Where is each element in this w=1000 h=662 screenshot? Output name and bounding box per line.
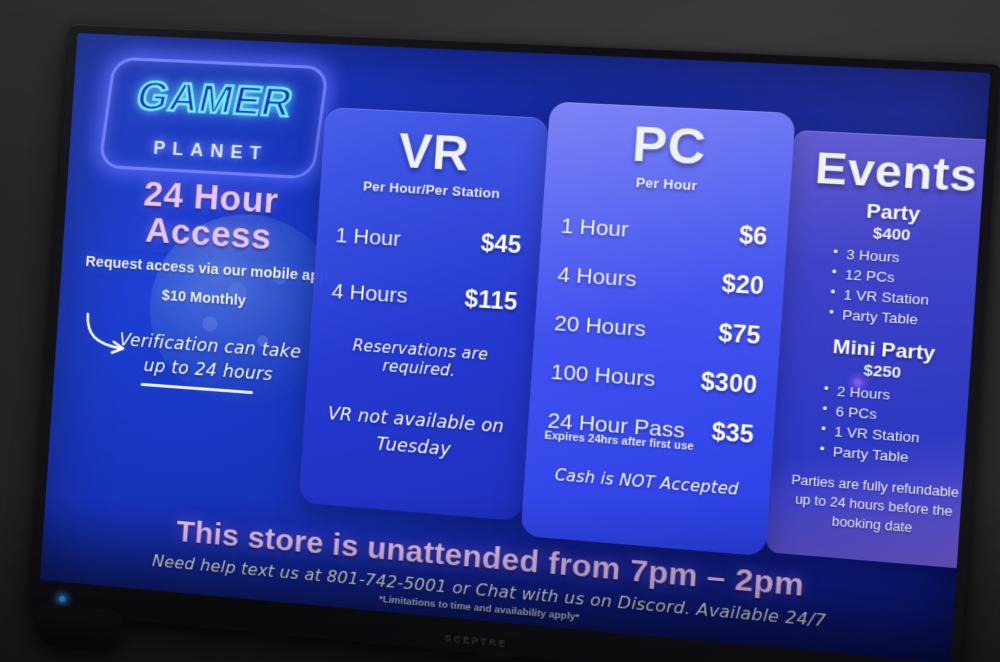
price-label: 1 Hour	[335, 224, 402, 252]
card-vr-reservation-note: Reservations are required.	[324, 334, 516, 384]
price-label: 1 Hour	[560, 214, 629, 243]
tv-mount-nub	[475, 650, 512, 662]
price-value: $35	[711, 418, 755, 450]
pricing-card-vr[interactable]: VR Per Hour/Per Station 1 Hour $45 4 Hou…	[299, 107, 550, 521]
price-label: 20 Hours	[553, 311, 646, 342]
price-value: $300	[700, 367, 758, 399]
price-value: $75	[717, 319, 761, 350]
pricing-card-pc[interactable]: PC Per Hour 1 Hour $6 4 Hours $20	[520, 101, 795, 556]
verification-note: Verification can take up to 24 hours	[67, 324, 334, 399]
curved-arrow-icon	[81, 311, 135, 358]
price-row: 4 Hours $115	[328, 262, 522, 331]
card-events-footnote: Parties are fully refundable up to 24 ho…	[785, 471, 962, 542]
logo-primary-text: GAMER	[132, 74, 297, 126]
event-package-mini-party: Mini Party $250 2 Hours 6 PCs 1 VR Stati…	[790, 333, 972, 472]
event-package-party: Party $400 3 Hours 12 PCs 1 VR Station P…	[799, 197, 981, 334]
price-label: 100 Hours	[550, 360, 656, 392]
price-label: 4 Hours	[557, 263, 638, 293]
wall-mounted-tv: GAMER PLANET 24 Hour Access Request acce…	[29, 24, 1000, 662]
price-value: $115	[464, 285, 519, 316]
tv-bezel: GAMER PLANET 24 Hour Access Request acce…	[29, 24, 1000, 662]
event-package-items: 2 Hours 6 PCs 1 VR Station Party Table	[819, 380, 969, 472]
card-pc-cash-note: Cash is NOT Accepted	[541, 465, 753, 500]
card-vr-title: VR	[338, 124, 531, 183]
pricing-board: GAMER PLANET 24 Hour Access Request acce…	[40, 33, 991, 662]
price-label: 4 Hours	[331, 280, 409, 309]
gamer-planet-logo: GAMER PLANET	[102, 56, 326, 179]
access-column: 24 Hour Access Request access via our mo…	[67, 173, 345, 400]
price-value: $6	[738, 221, 768, 251]
event-package-items: 3 Hours 12 PCs 1 VR Station Party Table	[828, 243, 978, 334]
tv-screen: GAMER PLANET 24 Hour Access Request acce…	[40, 33, 991, 662]
tv-corner-foot	[32, 603, 123, 653]
price-value: $45	[480, 229, 522, 259]
price-value: $20	[721, 270, 765, 301]
card-vr-price-list: 1 Hour $45 4 Hours $115	[328, 206, 526, 330]
pricing-card-events[interactable]: Events Party $400 3 Hours 12 PCs 1 VR St…	[766, 130, 991, 570]
room-wall: GAMER PLANET 24 Hour Access Request acce…	[0, 0, 1000, 662]
card-events-title: Events	[808, 146, 985, 201]
card-pc-title: PC	[563, 117, 777, 178]
card-pc-price-list: 1 Hour $6 4 Hours $20 20 Hours $75	[544, 201, 771, 458]
